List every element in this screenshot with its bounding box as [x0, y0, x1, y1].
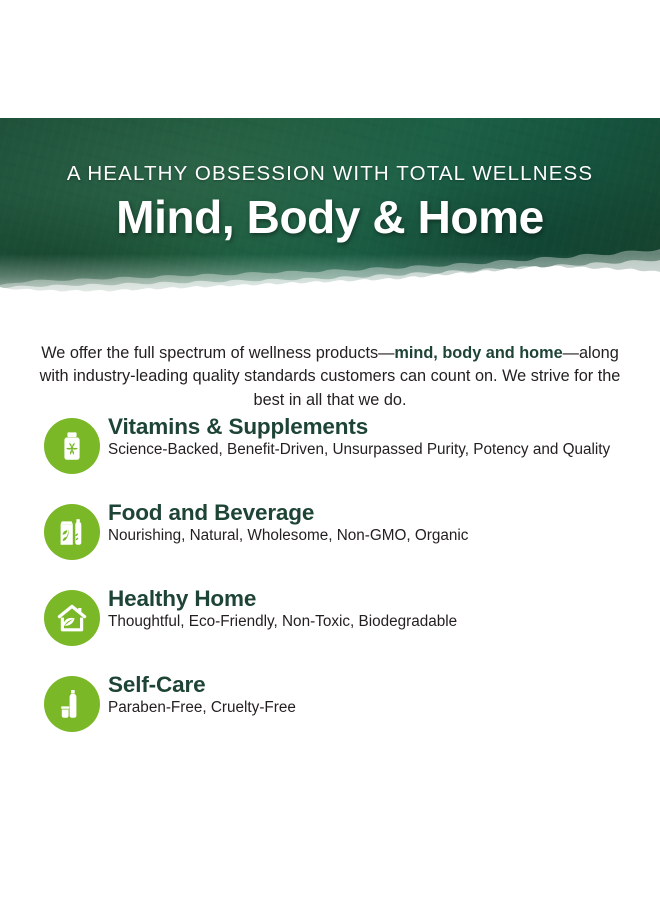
hero-text-block: A HEALTHY OBSESSION WITH TOTAL WELLNESS …: [0, 164, 660, 241]
lotion-bottle-icon: [44, 676, 100, 732]
intro-paragraph: We offer the full spectrum of wellness p…: [30, 342, 630, 411]
food-pouch-and-bottle-icon: [44, 504, 100, 560]
feature-item-food-beverage: Food and Beverage Nourishing, Natural, W…: [0, 500, 660, 568]
feature-description: Science-Backed, Benefit-Driven, Unsurpas…: [108, 440, 640, 460]
hero-eyebrow: A HEALTHY OBSESSION WITH TOTAL WELLNESS: [0, 164, 660, 185]
feature-title: Vitamins & Supplements: [108, 414, 640, 439]
feature-list: Vitamins & Supplements Science-Backed, B…: [0, 414, 660, 758]
supplement-bottle-icon: [44, 418, 100, 474]
intro-text-part-1: We offer the full spectrum of wellness p…: [41, 344, 394, 362]
feature-item-healthy-home: Healthy Home Thoughtful, Eco-Friendly, N…: [0, 586, 660, 654]
feature-description: Nourishing, Natural, Wholesome, Non-GMO,…: [108, 526, 640, 546]
feature-title: Food and Beverage: [108, 500, 640, 525]
feature-item-vitamins-supplements: Vitamins & Supplements Science-Backed, B…: [0, 414, 660, 482]
hero-title: Mind, Body & Home: [0, 194, 660, 242]
feature-description: Paraben-Free, Cruelty-Free: [108, 698, 640, 718]
hero-banner: A HEALTHY OBSESSION WITH TOTAL WELLNESS …: [0, 118, 660, 293]
house-with-leaf-icon: [44, 590, 100, 646]
feature-item-self-care: Self-Care Paraben-Free, Cruelty-Free: [0, 672, 660, 740]
feature-description: Thoughtful, Eco-Friendly, Non-Toxic, Bio…: [108, 612, 640, 632]
feature-title: Healthy Home: [108, 586, 640, 611]
feature-title: Self-Care: [108, 672, 640, 697]
intro-highlight: mind, body and home: [394, 344, 562, 362]
